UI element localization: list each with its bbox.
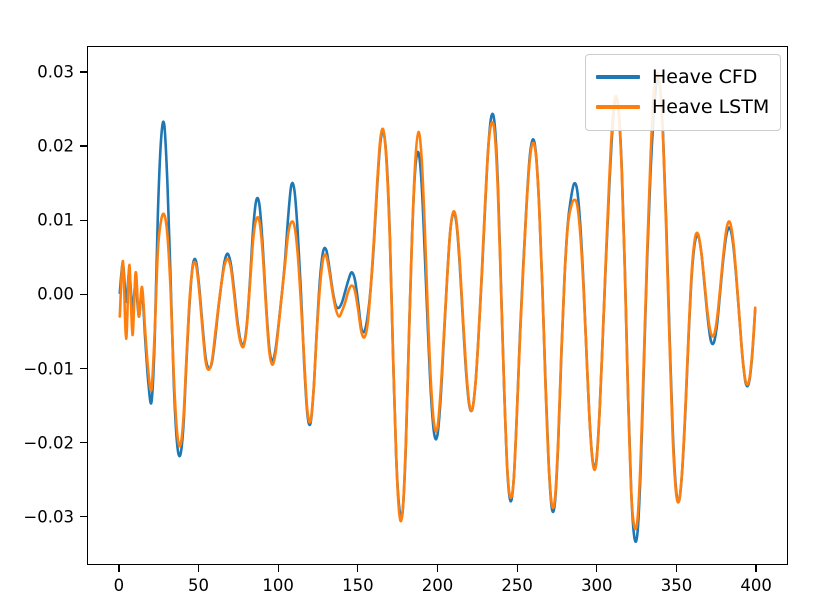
y-tick-label: 0.01 [37,211,74,230]
chart-figure: 0.030.020.010.00−0.01−0.02−0.03 05010015… [0,0,830,616]
legend-swatch-heave-cfd [596,75,640,78]
x-tick-label: 50 [188,576,209,595]
series-line-heave-lstm [120,74,755,530]
y-tick-label: −0.01 [23,359,74,378]
x-tick-mark [198,565,199,572]
x-tick-label: 150 [342,576,374,595]
x-tick-mark [755,565,756,572]
y-tick-mark [80,220,87,221]
x-tick-mark [278,565,279,572]
y-tick-mark [80,294,87,295]
x-tick-mark [118,565,119,572]
x-axis-tick-labels: 050100150200250300350400 [0,576,830,606]
x-tick-label: 100 [262,576,294,595]
x-tick-label: 200 [422,576,454,595]
legend-swatch-heave-lstm [596,105,640,108]
x-tick-label: 300 [581,576,613,595]
chart-legend: Heave CFD Heave LSTM [585,54,781,131]
x-tick-label: 250 [501,576,533,595]
y-tick-label: 0.00 [37,285,74,304]
x-tick-mark [517,565,518,572]
x-tick-label: 0 [114,576,125,595]
x-tick-mark [676,565,677,572]
y-tick-mark [80,145,87,146]
x-tick-mark [357,565,358,572]
y-tick-label: −0.03 [23,507,74,526]
series-line-heave-cfd [120,78,755,541]
y-tick-label: 0.03 [37,62,74,81]
x-tick-label: 400 [740,576,772,595]
y-tick-mark [80,71,87,72]
legend-item-heave-lstm: Heave LSTM [596,92,770,122]
y-tick-label: −0.02 [23,433,74,452]
y-tick-mark [80,368,87,369]
x-tick-mark [437,565,438,572]
x-tick-mark [596,565,597,572]
x-tick-label: 350 [661,576,693,595]
legend-label-heave-lstm: Heave LSTM [652,98,769,117]
y-tick-label: 0.02 [37,137,74,156]
legend-label-heave-cfd: Heave CFD [652,68,757,87]
y-tick-mark [80,516,87,517]
y-axis-tick-labels: 0.030.020.010.00−0.01−0.02−0.03 [0,0,74,616]
legend-item-heave-cfd: Heave CFD [596,62,770,92]
y-tick-mark [80,442,87,443]
